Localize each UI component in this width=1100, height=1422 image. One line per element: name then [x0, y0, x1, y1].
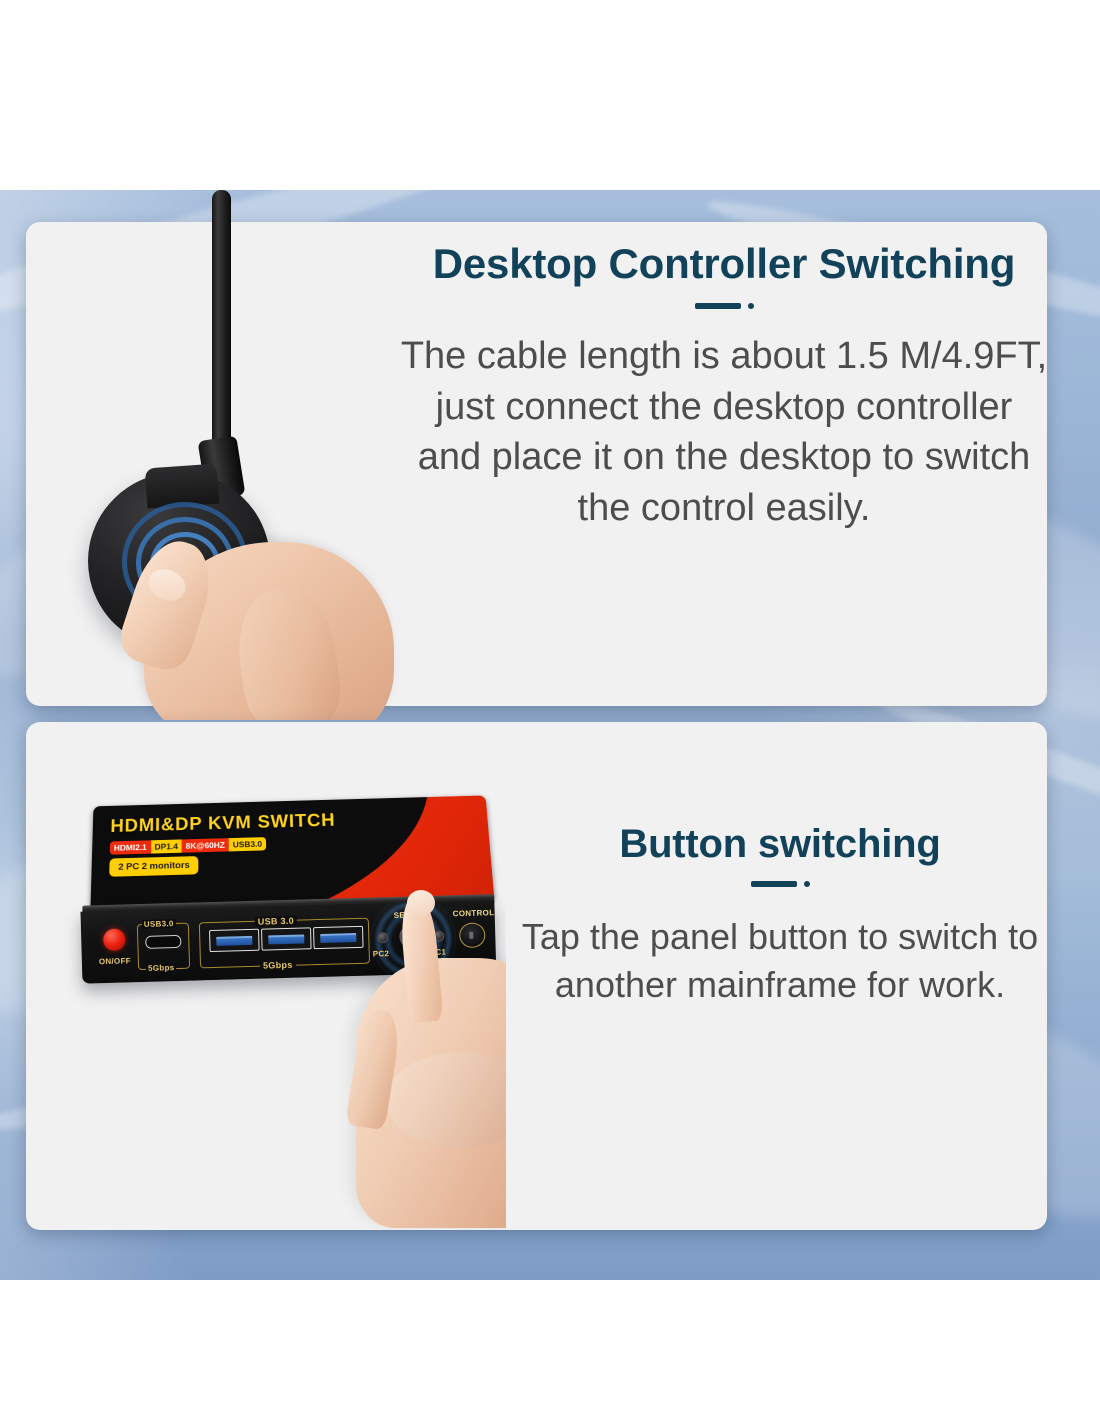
top-white-band: [0, 0, 1100, 190]
desktop-controller-photo: [26, 190, 456, 720]
panel-1-heading: Desktop Controller Switching: [400, 240, 1048, 287]
spec-badge-usb3: USB3.0: [229, 837, 266, 851]
index-fingertip: [407, 890, 435, 916]
panel-2-heading: Button switching: [520, 822, 1040, 867]
divider-bar: [751, 881, 797, 887]
spec-badge-hdmi: HDMI2.1: [110, 840, 151, 854]
power-button[interactable]: [103, 928, 126, 951]
spec-badge-dp: DP1.4: [151, 839, 182, 853]
bottom-white-band: [0, 1280, 1100, 1422]
panel-1-body: The cable length is about 1.5 M/4.9FT, j…: [400, 331, 1048, 533]
button-switching-text-block: Button switching Tap the panel button to…: [520, 822, 1040, 1009]
usb-a-port-2[interactable]: [261, 927, 312, 950]
controller-cable: [212, 190, 231, 448]
usba-top-label: USB 3.0: [255, 916, 297, 927]
kvm-top-face: HDMI&DP KVM SWITCH HDMI2.1 DP1.4 8K@60HZ…: [90, 795, 494, 909]
panel-1-divider: [400, 303, 1048, 309]
divider-dot: [804, 881, 810, 887]
usb-a-contact-block: [268, 934, 304, 944]
panel-2-body: Tap the panel button to switch to anothe…: [520, 913, 1040, 1009]
usbc-top-label: USB3.0: [142, 919, 176, 929]
desktop-controller-text-block: Desktop Controller Switching The cable l…: [400, 240, 1048, 533]
pc-monitor-badge: 2 PC 2 monitors: [109, 856, 198, 877]
usb-c-port[interactable]: [145, 935, 181, 949]
divider-bar: [695, 303, 741, 309]
spec-badge-8k: 8K@60HZ: [182, 838, 229, 852]
usbc-bottom-label: 5Gbps: [146, 963, 177, 973]
usba-bottom-label: 5Gbps: [260, 960, 296, 971]
control-label: CONTROL: [453, 908, 495, 918]
control-jack-port[interactable]: [459, 922, 486, 948]
usb-a-contact-block: [320, 933, 356, 943]
usb-a-contact-block: [216, 935, 252, 945]
kvm-switch-photo: HDMI&DP KVM SWITCH HDMI2.1 DP1.4 8K@60HZ…: [26, 722, 506, 1230]
usb-a-port-3[interactable]: [313, 926, 364, 949]
divider-dot: [748, 303, 754, 309]
usb-a-port-1[interactable]: [209, 929, 260, 952]
power-label: ON/OFF: [99, 956, 131, 966]
led-pc2-label: PC2: [373, 949, 390, 958]
panel-2-divider: [520, 881, 1040, 887]
